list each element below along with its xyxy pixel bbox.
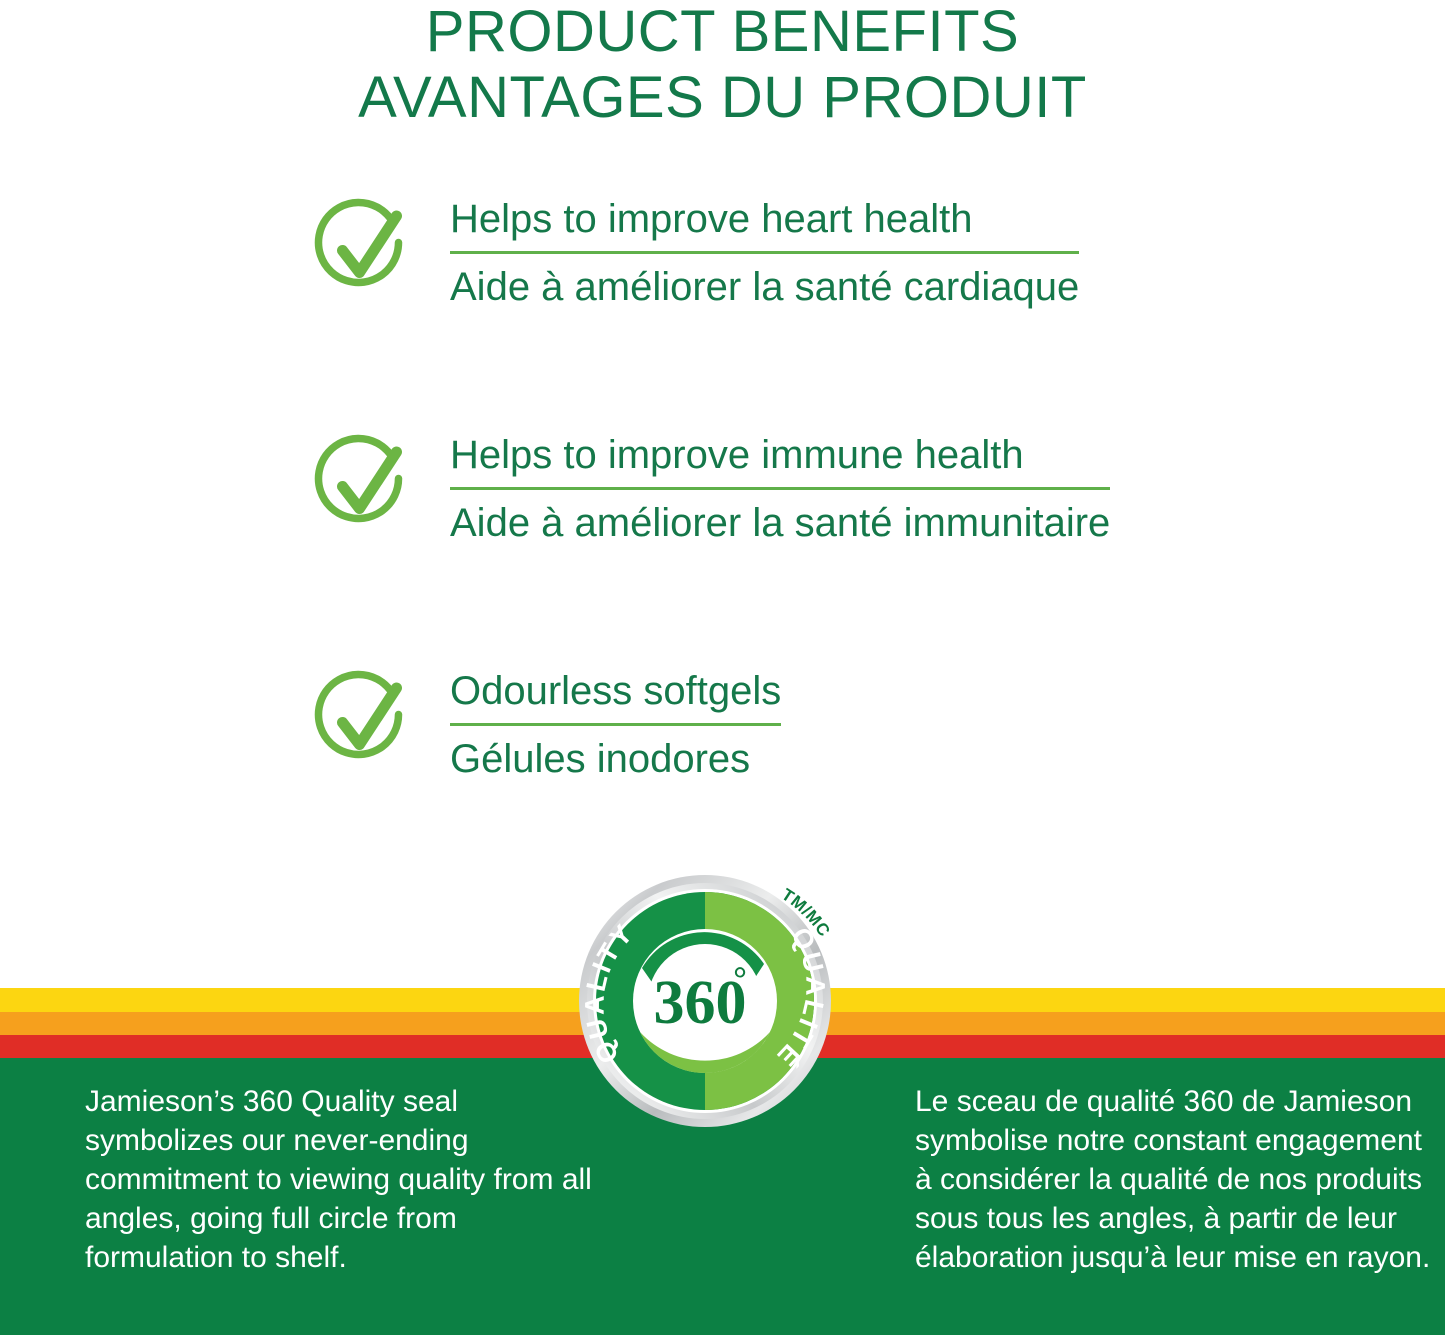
benefit-label-english: Odourless softgels [450,666,781,723]
360-quality-seal: 360 ° QUALITY QUALITÉ TM/MC [578,872,848,1157]
benefit-label-french: Gélules inodores [450,734,781,784]
benefit-label-french: Aide à améliorer la santé cardiaque [450,262,1079,312]
benefit-label-english: Helps to improve heart health [450,194,1079,251]
seal-description-english: Jamieson’s 360 Quality seal symbolizes o… [85,1082,605,1277]
product-benefits-panel: PRODUCT BENEFITS AVANTAGES DU PRODUIT He… [0,0,1445,1335]
seal-description-french: Le sceau de qualité 360 de Jamieson symb… [915,1082,1435,1277]
benefits-list: Helps to improve heart health Aide à amé… [0,190,1445,898]
seal-degree-symbol: ° [733,961,747,998]
benefit-label-french: Aide à améliorer la santé immunitaire [450,498,1110,548]
benefit-item-odourless-softgels: Odourless softgels Gélules inodores [0,662,1445,898]
benefit-label-english: Helps to improve immune health [450,430,1110,487]
benefit-divider [450,251,1079,254]
benefit-item-heart-health: Helps to improve heart health Aide à amé… [0,190,1445,426]
checkmark-circle-icon [312,666,420,774]
benefit-divider [450,487,1110,490]
benefit-text-block: Helps to improve immune health Aide à am… [450,426,1110,548]
page-title-english: PRODUCT BENEFITS [0,0,1445,64]
page-title-french: AVANTAGES DU PRODUIT [0,64,1445,130]
benefit-item-immune-health: Helps to improve immune health Aide à am… [0,426,1445,662]
checkmark-circle-icon [312,194,420,302]
page-title-block: PRODUCT BENEFITS AVANTAGES DU PRODUIT [0,0,1445,130]
benefit-divider [450,723,781,726]
benefit-text-block: Odourless softgels Gélules inodores [450,662,781,784]
checkmark-circle-icon [312,430,420,538]
benefit-text-block: Helps to improve heart health Aide à amé… [450,190,1079,312]
